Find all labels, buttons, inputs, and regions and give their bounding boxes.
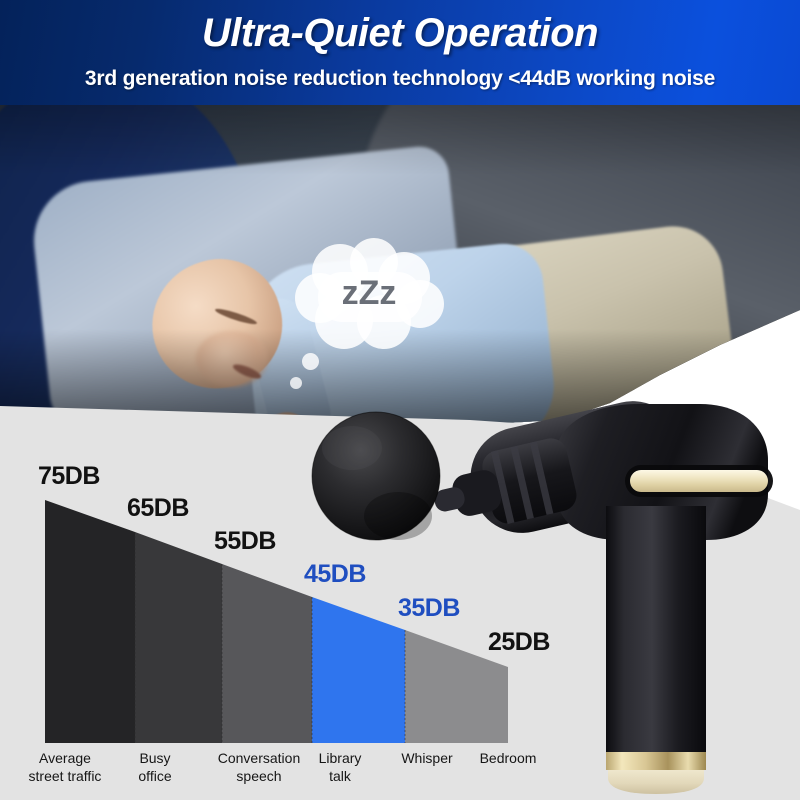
product-marketing-image: Ultra-Quiet Operation 3rd generation noi… — [0, 0, 800, 800]
massage-gun-product-photo — [0, 0, 800, 800]
ball-head-attachment — [312, 412, 440, 540]
handle-base — [608, 770, 704, 794]
gold-accent-strip — [625, 465, 773, 497]
gun-handle — [606, 506, 706, 794]
gold-ring — [606, 752, 706, 770]
